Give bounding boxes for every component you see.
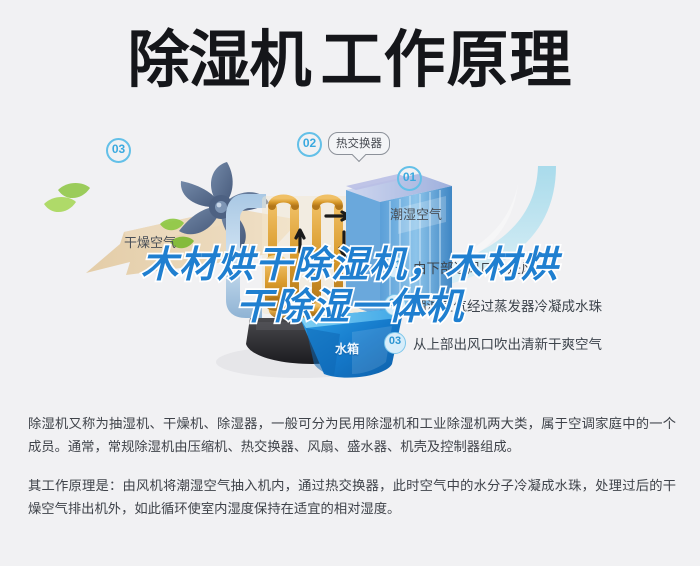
step-text: 由下部进风口中进风 [413, 257, 535, 277]
infographic-page: 除湿机 工作原理 [0, 0, 700, 566]
badge-01: 01 [397, 166, 422, 191]
step-text: 潮湿空气经过蒸发器冷凝成水珠 [413, 295, 602, 315]
badge-03: 03 [106, 138, 131, 163]
paragraph-2: 其工作原理是：由风机将潮湿空气抽入机内，通过热交换器，此时空气中的水分子冷凝成水… [28, 474, 676, 520]
label-dry-air: 干燥空气 [124, 232, 176, 251]
label-humid-air: 潮湿空气 [390, 204, 442, 223]
page-title-part2: 工作原理 [321, 30, 573, 92]
label-water-tank: 水箱 [335, 340, 359, 357]
callout-heat-exchanger: 热交换器 [328, 132, 390, 155]
step-item-01: 01 由下部进风口中进风 [384, 248, 684, 286]
step-text: 从上部出风口吹出清新干爽空气 [413, 333, 602, 353]
badge-02: 02 [297, 132, 322, 157]
step-number-icon: 02 [384, 294, 406, 316]
step-item-03: 03 从上部出风口吹出清新干爽空气 [384, 324, 684, 362]
step-number-icon: 01 [384, 256, 406, 278]
body-copy: 除湿机又称为抽湿机、干燥机、除湿器，一般可分为民用除湿机和工业除湿机两大类，属于… [28, 412, 676, 520]
page-title-part1: 除湿机 [127, 30, 310, 92]
step-item-02: 02 潮湿空气经过蒸发器冷凝成水珠 [384, 286, 684, 324]
page-title: 除湿机 工作原理 [0, 18, 700, 104]
paragraph-1: 除湿机又称为抽湿机、干燥机、除湿器，一般可分为民用除湿机和工业除湿机两大类，属于… [28, 412, 676, 458]
step-list: 01 由下部进风口中进风 02 潮湿空气经过蒸发器冷凝成水珠 03 从上部出风口… [384, 248, 684, 362]
step-number-icon: 03 [384, 332, 406, 354]
